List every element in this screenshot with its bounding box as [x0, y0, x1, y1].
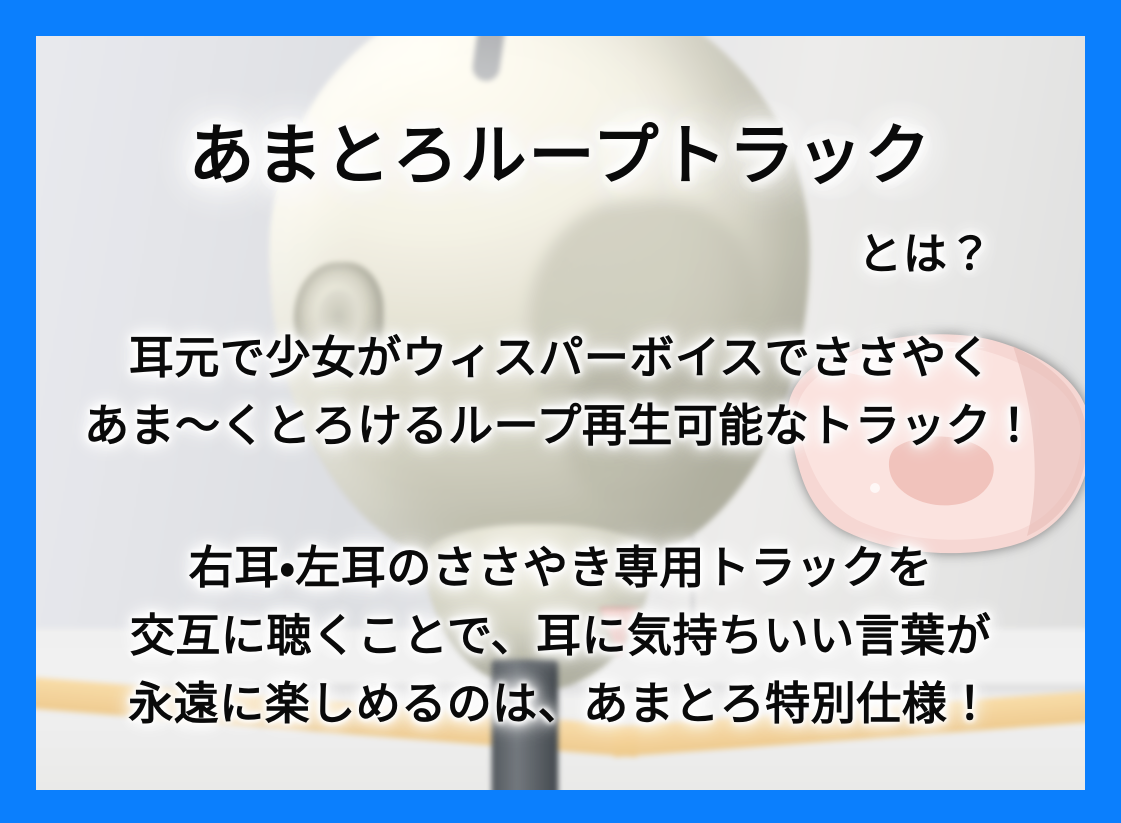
promo-slide: あまとろループトラック とは？ 耳元で少女がウィスパーボイスでささやく あま〜く…: [0, 0, 1121, 823]
mannequin-ear: [293, 262, 382, 374]
anime-character-cutout: [777, 328, 1085, 558]
mannequin-jaw-shadow: [566, 350, 722, 506]
mannequin-head: [268, 36, 809, 701]
content-panel: あまとろループトラック とは？ 耳元で少女がウィスパーボイスでささやく あま〜く…: [36, 36, 1085, 790]
mannequin-stand: [491, 659, 558, 790]
title-suffix: とは？: [858, 218, 993, 282]
